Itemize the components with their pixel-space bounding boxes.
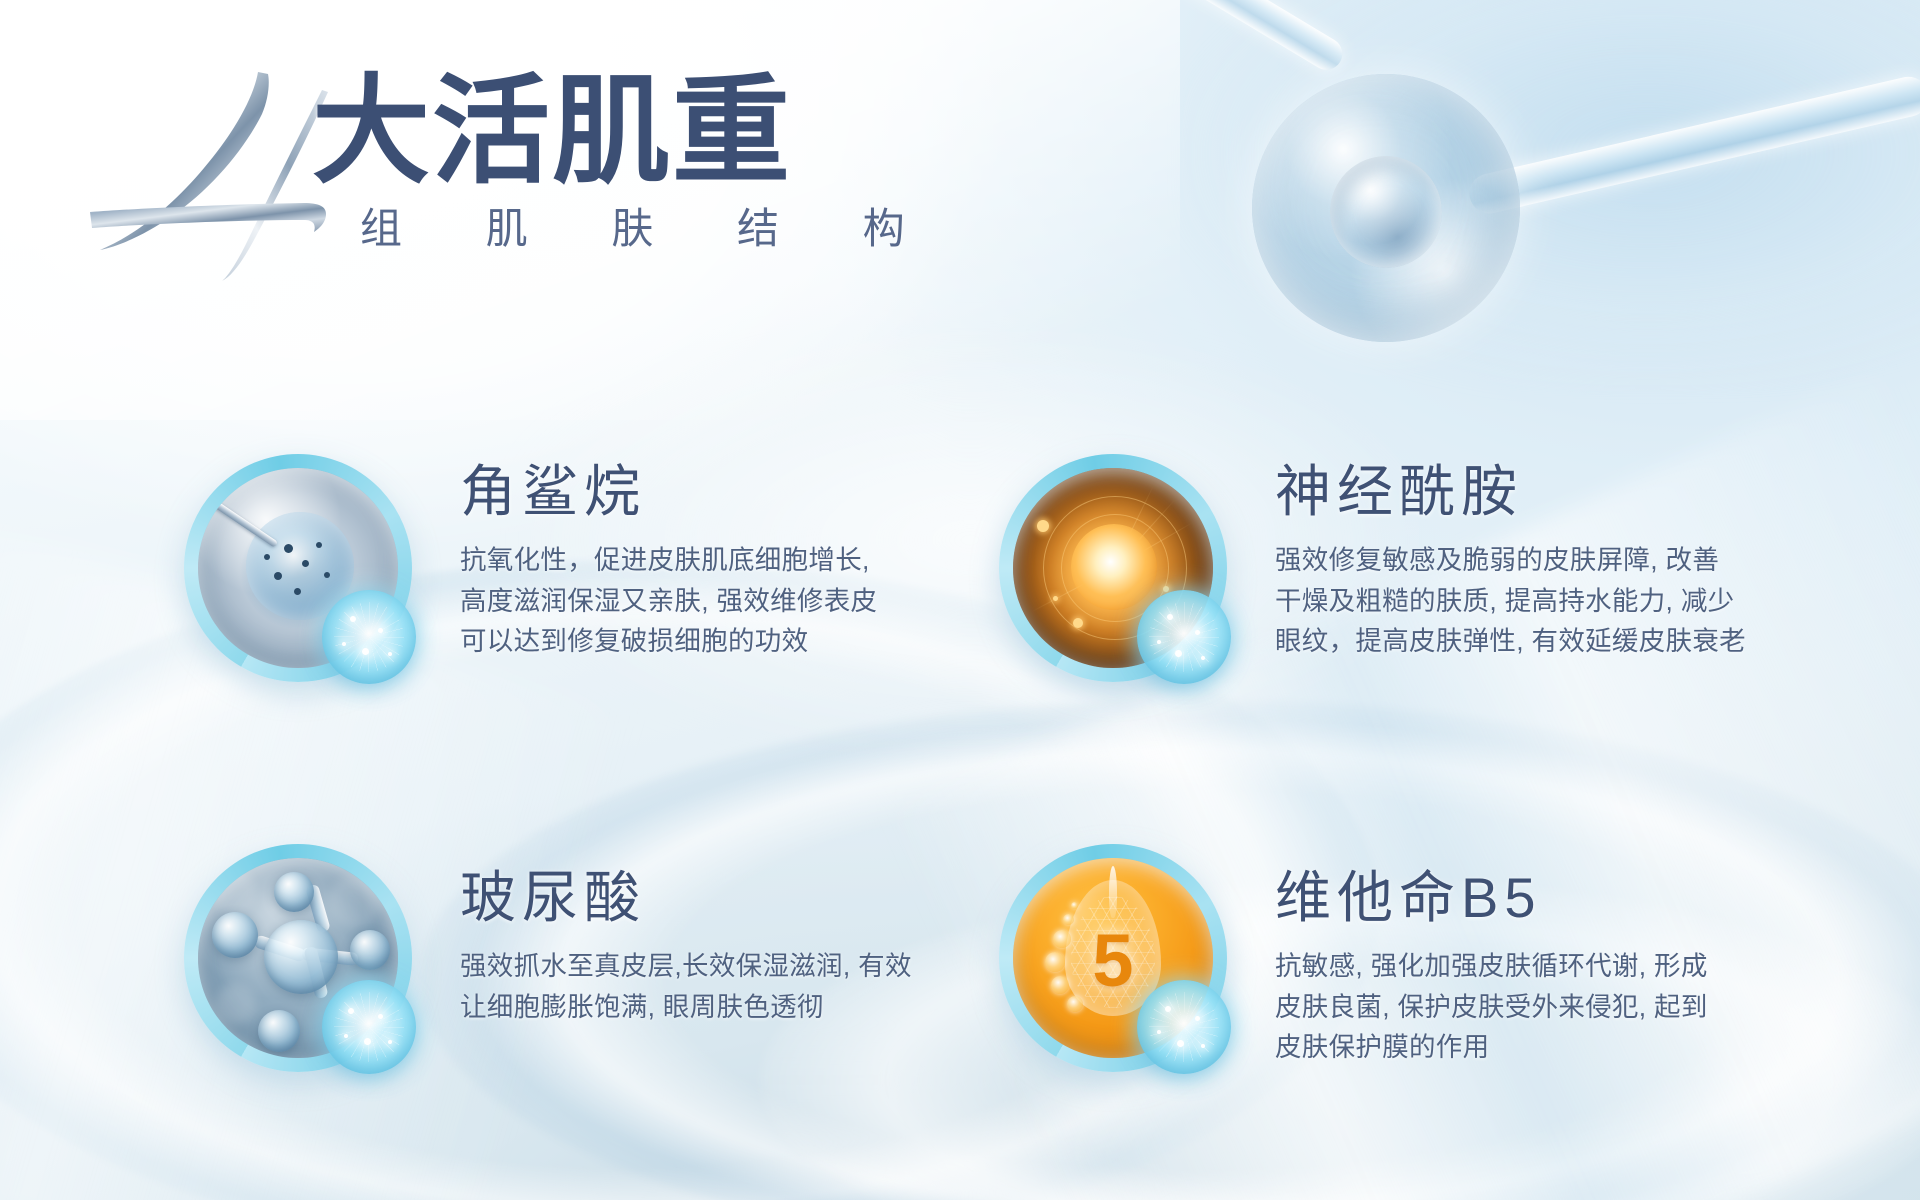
description-line: 强效修复敏感及脆弱的皮肤屏障, 改善: [1275, 540, 1835, 580]
light-mote: [1163, 586, 1169, 592]
cell-dot: [302, 560, 309, 567]
atom-left: [212, 912, 258, 958]
glow-bubble-badge: [322, 590, 416, 684]
description-line: 抗氧化性，促进皮肤肌底细胞增长,: [460, 540, 1020, 580]
bubble-spark: [1177, 1040, 1184, 1047]
atom-top: [274, 872, 314, 912]
ingredient-card: 神经酰胺 强效修复敏感及脆弱的皮肤屏障, 改善 干燥及粗糙的肤质, 提高持水能力…: [985, 440, 1845, 770]
ingredient-card: 角鲨烷 抗氧化性，促进皮肤肌底细胞增长, 高度滋润保湿又亲肤, 强效维修表皮 可…: [170, 440, 1030, 770]
hyaluronic-molecule-icon: [170, 830, 426, 1086]
ingredient-description: 强效修复敏感及脆弱的皮肤屏障, 改善 干燥及粗糙的肤质, 提高持水能力, 减少 …: [1275, 540, 1835, 661]
description-line: 皮肤良菌, 保护皮肤受外来侵犯, 起到: [1275, 987, 1835, 1027]
ingredient-title: 神经酰胺: [1275, 462, 1835, 522]
micro-bubble: [1071, 902, 1078, 909]
ingredient-title: 维他命B5: [1275, 868, 1835, 928]
bubble-web-pattern: [334, 992, 404, 1062]
cell-dot: [284, 544, 293, 553]
poster-canvas: 大活肌重 组 肌 肤 结 构: [0, 0, 1920, 1200]
description-line: 抗敏感, 强化加强皮肤循环代谢, 形成: [1275, 946, 1835, 986]
bubble-web-pattern: [334, 602, 404, 672]
pipette-needle: [198, 491, 278, 548]
description-line: 让细胞膨胀饱满, 眼周肤色透彻: [460, 987, 1020, 1027]
ingredient-title: 玻尿酸: [460, 868, 1020, 928]
bubble-spark: [388, 652, 392, 656]
description-line: 强效抓水至真皮层,长效保湿滋润, 有效: [460, 946, 1020, 986]
ingredient-description: 抗氧化性，促进皮肤肌底细胞增长, 高度滋润保湿又亲肤, 强效维修表皮 可以达到修…: [460, 540, 1020, 661]
squalane-cell-icon: [170, 440, 426, 696]
card-text-block: 角鲨烷 抗氧化性，促进皮肤肌底细胞增长, 高度滋润保湿又亲肤, 强效维修表皮 可…: [460, 462, 1020, 661]
cell-dot: [316, 542, 322, 548]
cell-dot: [274, 572, 282, 580]
description-line: 高度滋润保湿又亲肤, 强效维修表皮: [460, 581, 1020, 621]
light-mote: [1037, 520, 1049, 532]
ingredient-description: 抗敏感, 强化加强皮肤循环代谢, 形成 皮肤良菌, 保护皮肤受外来侵犯, 起到 …: [1275, 946, 1835, 1067]
bubble-spark: [1195, 630, 1200, 635]
glow-bubble-badge: [322, 980, 416, 1074]
description-line: 可以达到修复破损细胞的功效: [460, 621, 1020, 661]
glow-core: [1071, 524, 1157, 610]
ingredient-card: 玻尿酸 强效抓水至真皮层,长效保湿滋润, 有效 让细胞膨胀饱满, 眼周肤色透彻: [170, 830, 1030, 1160]
bubble-spark: [1195, 1016, 1200, 1021]
ingredient-card: 5 维他命B5 抗敏感, 强化加强皮肤循环代谢, 形成 皮肤良菌, 保护皮肤受外…: [985, 830, 1845, 1160]
glow-bubble-badge: [1137, 980, 1231, 1074]
description-line: 眼纹，提高皮肤弹性, 有效延缓皮肤衰老: [1275, 621, 1835, 661]
card-text-block: 神经酰胺 强效修复敏感及脆弱的皮肤屏障, 改善 干燥及粗糙的肤质, 提高持水能力…: [1275, 462, 1835, 661]
bubble-web-pattern: [1149, 992, 1219, 1062]
card-text-block: 维他命B5 抗敏感, 强化加强皮肤循环代谢, 形成 皮肤良菌, 保护皮肤受外来侵…: [1275, 868, 1835, 1067]
light-mote: [1073, 618, 1083, 628]
ingredient-card-grid: 角鲨烷 抗氧化性，促进皮肤肌底细胞增长, 高度滋润保湿又亲肤, 强效维修表皮 可…: [0, 0, 1920, 1200]
bubble-spark: [378, 1014, 383, 1019]
ceramide-sphere-icon: [985, 440, 1241, 696]
background-blob: [216, 984, 256, 1024]
bubble-spark: [1165, 1006, 1171, 1012]
bubble-spark: [1201, 656, 1205, 660]
card-text-block: 玻尿酸 强效抓水至真皮层,长效保湿滋润, 有效 让细胞膨胀饱满, 眼周肤色透彻: [460, 868, 1020, 1027]
bubble-spark: [1201, 1044, 1205, 1048]
bubble-spark: [362, 648, 369, 655]
ingredient-title: 角鲨烷: [460, 462, 1020, 522]
atom-bottom: [258, 1010, 300, 1052]
bubble-spark: [378, 628, 383, 633]
bubble-spark: [1167, 614, 1173, 620]
ingredient-description: 强效抓水至真皮层,长效保湿滋润, 有效 让细胞膨胀饱满, 眼周肤色透彻: [460, 946, 1020, 1027]
bubble-spark: [350, 616, 356, 622]
description-line: 皮肤保护膜的作用: [1275, 1027, 1835, 1067]
atom-right: [350, 930, 390, 970]
cell-dot: [294, 588, 301, 595]
bubble-spark: [388, 1040, 392, 1044]
bubble-spark: [1157, 640, 1161, 644]
vitamin-b5-droplet-icon: 5: [985, 830, 1241, 1086]
cell-dot: [264, 554, 270, 560]
background-blob: [212, 870, 256, 914]
bubble-spark: [364, 1038, 371, 1045]
description-line: 干燥及粗糙的肤质, 提高持水能力, 减少: [1275, 581, 1835, 621]
background-blob: [328, 876, 380, 928]
bubble-web-pattern: [1149, 602, 1219, 672]
bubble-spark: [1157, 1030, 1161, 1034]
bubble-spark: [348, 1008, 354, 1014]
bubble-spark: [342, 642, 346, 646]
light-mote: [1053, 596, 1058, 601]
bubble-spark: [344, 1034, 348, 1038]
bubble-spark: [1175, 650, 1182, 657]
glow-bubble-badge: [1137, 590, 1231, 684]
cell-dot: [324, 572, 330, 578]
atom-center: [264, 920, 338, 994]
